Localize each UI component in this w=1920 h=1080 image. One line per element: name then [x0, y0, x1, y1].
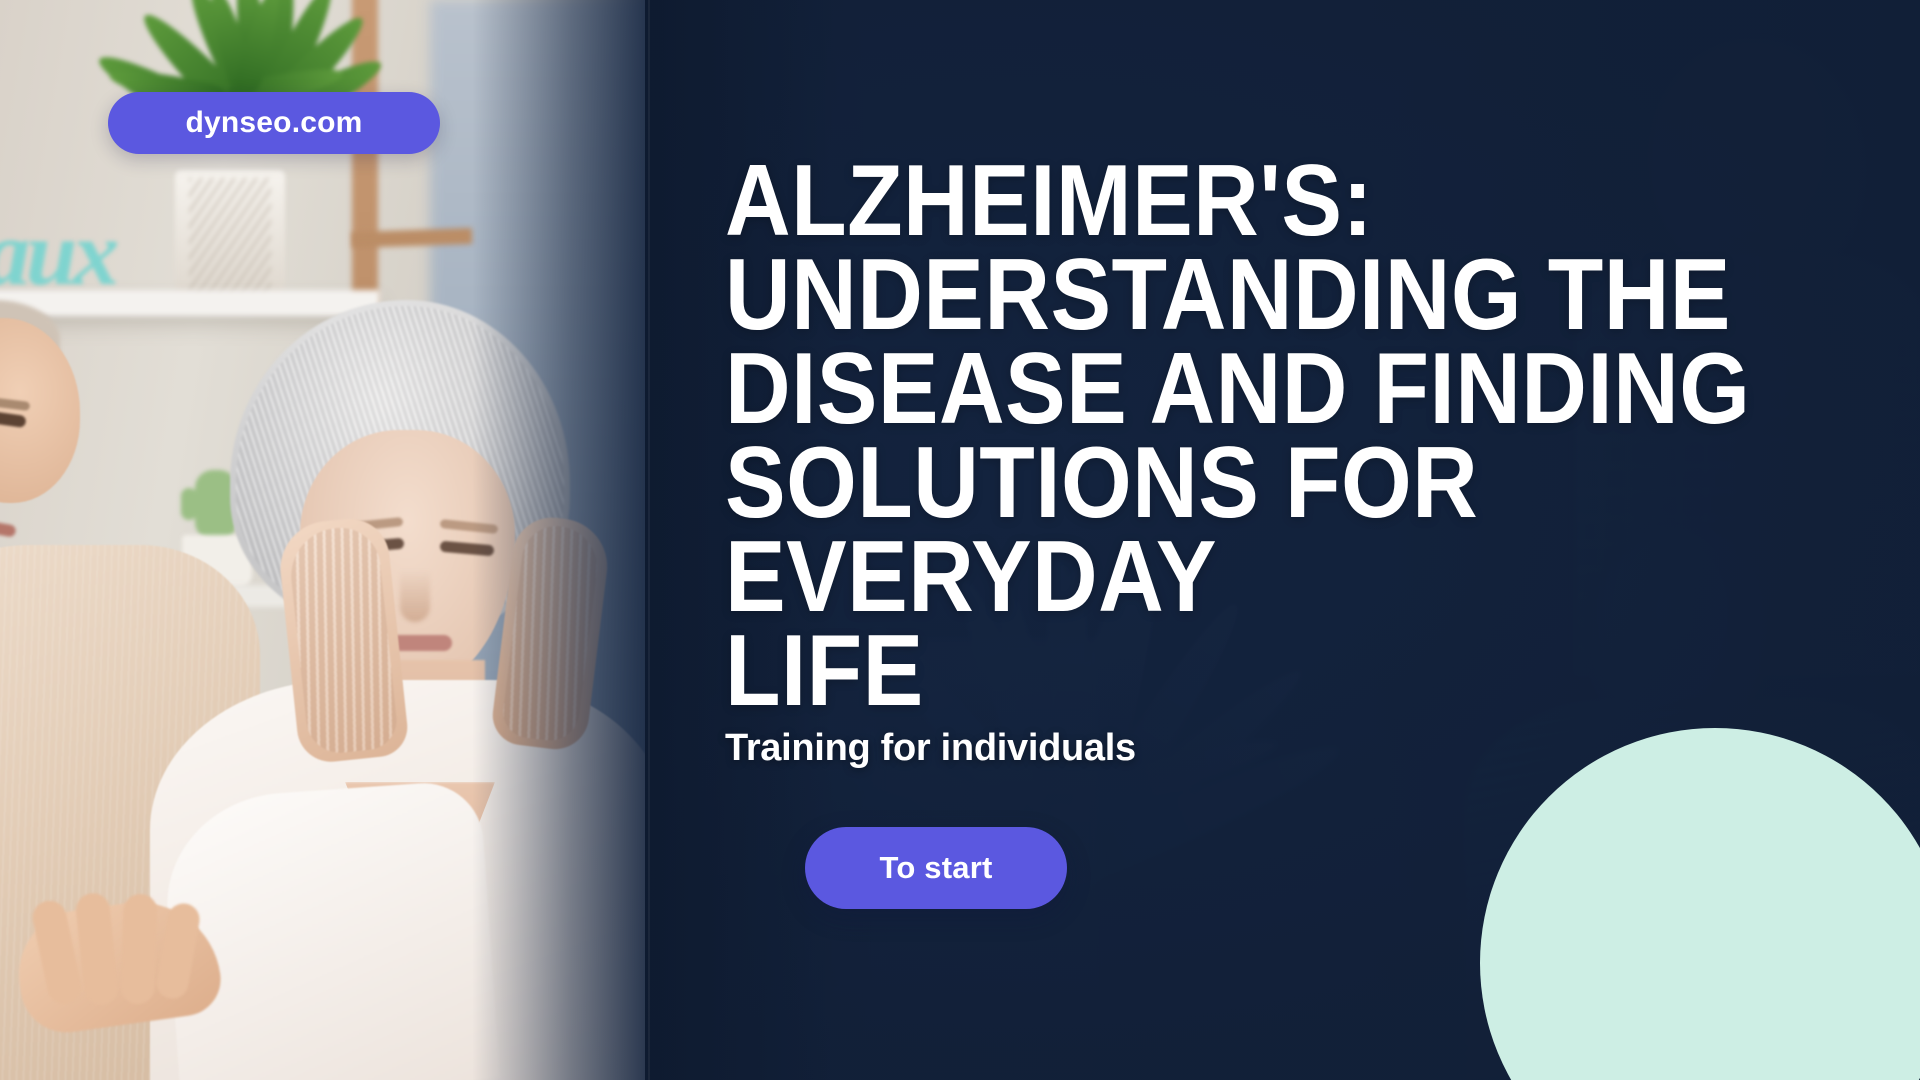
hero-subtitle: Training for individuals	[725, 727, 1136, 770]
page-title-line-4: SOLUTIONS FOR EVERYDAY	[725, 437, 1785, 625]
page-title-line-2: UNDERSTANDING THE	[725, 249, 1785, 343]
photo-woman-nose	[400, 570, 430, 622]
photo-man-finger	[120, 893, 158, 1004]
photo-edge-fade	[472, 0, 652, 1080]
panel-divider	[648, 0, 650, 1080]
photo-woman-arm	[160, 779, 500, 1080]
to-start-button[interactable]: To start	[805, 827, 1067, 909]
left-photo: aux	[0, 0, 652, 1080]
hero-banner: aux	[0, 0, 1920, 1080]
page-title: ALZHEIMER'S:UNDERSTANDING THEDISEASE AND…	[725, 155, 1785, 719]
brand-badge-label: dynseo.com	[185, 106, 362, 140]
photo-decor-letters: aux	[0, 200, 115, 306]
page-title-line-3: DISEASE AND FINDING	[725, 343, 1785, 437]
hero-content: ALZHEIMER'S:UNDERSTANDING THEDISEASE AND…	[725, 155, 1785, 719]
photo-plant-pot	[175, 170, 285, 305]
page-title-line-5: LIFE	[725, 625, 1785, 719]
page-title-line-1: ALZHEIMER'S:	[725, 155, 1785, 249]
brand-badge[interactable]: dynseo.com	[108, 92, 440, 154]
